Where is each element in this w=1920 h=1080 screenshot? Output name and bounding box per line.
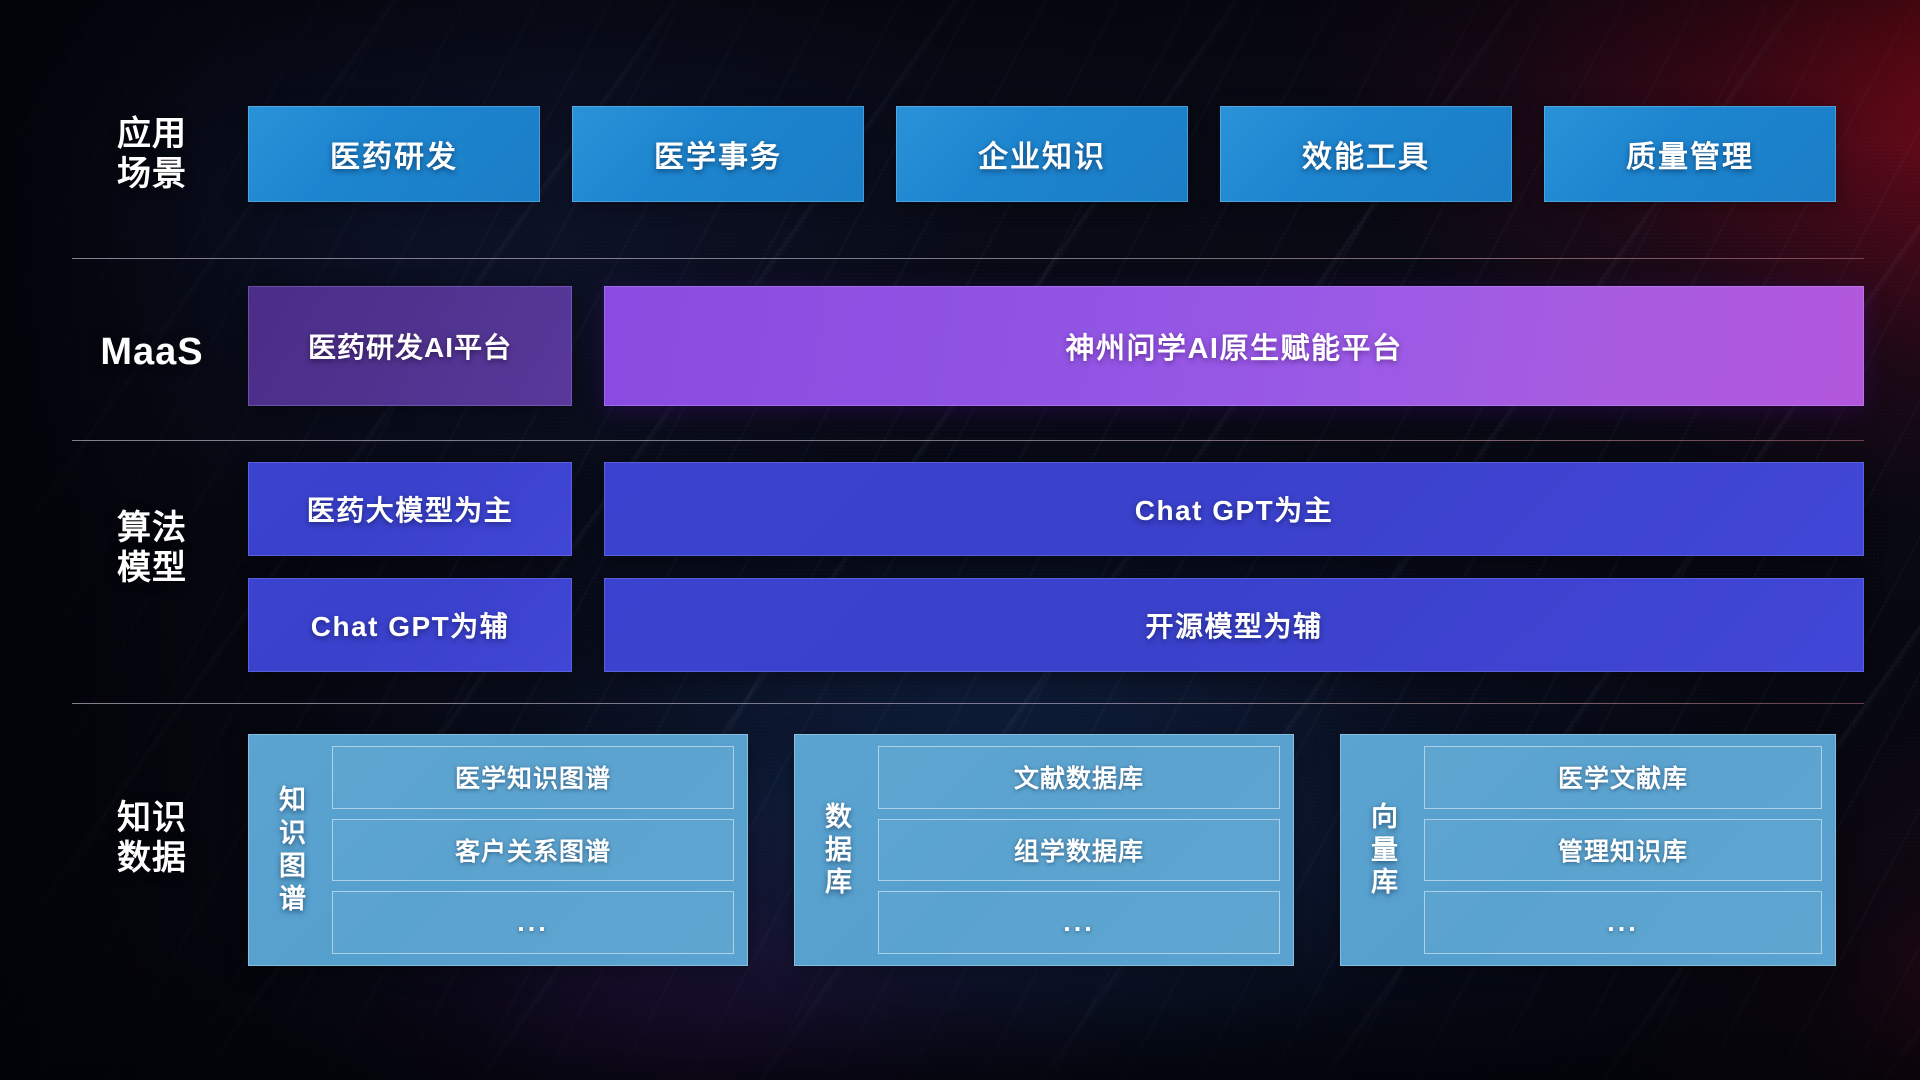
knowledge-group-graph-title: 知 识 图 谱 — [254, 784, 332, 916]
knowledge-group-vector-title: 向 量 库 — [1346, 801, 1424, 900]
divider-application-maas — [72, 258, 1864, 259]
algorithm-card-primary-right[interactable]: Chat GPT为主 — [604, 462, 1864, 556]
scenario-card-3-label: 企业知识 — [978, 132, 1106, 176]
knowledge-item-graph-more-label: ... — [517, 907, 549, 938]
knowledge-item-vector-more[interactable]: ... — [1424, 891, 1822, 954]
algorithm-card-primary-right-label: Chat GPT为主 — [1135, 489, 1334, 529]
knowledge-group-graph-items: 医学知识图谱 客户关系图谱 ... — [332, 746, 734, 954]
algorithm-card-secondary-left-label: Chat GPT为辅 — [311, 605, 510, 645]
scenario-card-5[interactable]: 质量管理 — [1544, 106, 1836, 202]
scenario-card-1-label: 医药研发 — [330, 132, 458, 176]
divider-algorithm-knowledge — [72, 703, 1864, 704]
knowledge-group-database[interactable]: 数 据 库 文献数据库 组学数据库 ... — [794, 734, 1294, 966]
knowledge-group-database-title: 数 据 库 — [800, 801, 878, 900]
row-label-application: 应用 场景 — [72, 114, 232, 194]
knowledge-item-database-1[interactable]: 文献数据库 — [878, 746, 1280, 809]
knowledge-group-graph[interactable]: 知 识 图 谱 医学知识图谱 客户关系图谱 ... — [248, 734, 748, 966]
row-label-knowledge: 知识 数据 — [72, 798, 232, 878]
scenario-card-4-label: 效能工具 — [1302, 132, 1430, 176]
scenario-card-3[interactable]: 企业知识 — [896, 106, 1188, 202]
maas-platform-card-left-label: 医药研发AI平台 — [308, 326, 512, 366]
maas-platform-card-left[interactable]: 医药研发AI平台 — [248, 286, 572, 406]
algorithm-card-secondary-right[interactable]: 开源模型为辅 — [604, 578, 1864, 672]
knowledge-item-graph-more[interactable]: ... — [332, 891, 734, 954]
knowledge-group-database-items: 文献数据库 组学数据库 ... — [878, 746, 1280, 954]
knowledge-group-vector-items: 医学文献库 管理知识库 ... — [1424, 746, 1822, 954]
algorithm-card-primary-left-label: 医药大模型为主 — [307, 489, 514, 529]
knowledge-item-database-1-label: 文献数据库 — [1014, 759, 1144, 795]
knowledge-item-database-2[interactable]: 组学数据库 — [878, 819, 1280, 882]
knowledge-item-graph-1-label: 医学知识图谱 — [455, 759, 611, 795]
algorithm-card-secondary-right-label: 开源模型为辅 — [1145, 605, 1322, 645]
knowledge-item-database-more[interactable]: ... — [878, 891, 1280, 954]
knowledge-item-graph-2[interactable]: 客户关系图谱 — [332, 819, 734, 882]
knowledge-item-vector-more-label: ... — [1607, 907, 1639, 938]
scenario-card-5-label: 质量管理 — [1626, 132, 1754, 176]
row-label-maas: MaaS — [72, 330, 232, 375]
divider-maas-algorithm — [72, 440, 1864, 441]
knowledge-item-vector-1[interactable]: 医学文献库 — [1424, 746, 1822, 809]
knowledge-group-vector[interactable]: 向 量 库 医学文献库 管理知识库 ... — [1340, 734, 1836, 966]
knowledge-item-vector-2[interactable]: 管理知识库 — [1424, 819, 1822, 882]
scenario-card-2[interactable]: 医学事务 — [572, 106, 864, 202]
row-label-algorithm: 算法 模型 — [72, 508, 232, 588]
algorithm-card-secondary-left[interactable]: Chat GPT为辅 — [248, 578, 572, 672]
diagram-content: 应用 场景 医药研发 医学事务 企业知识 效能工具 质量管理 MaaS 医药研发… — [0, 0, 1920, 1080]
knowledge-item-graph-1[interactable]: 医学知识图谱 — [332, 746, 734, 809]
scenario-card-4[interactable]: 效能工具 — [1220, 106, 1512, 202]
algorithm-card-primary-left[interactable]: 医药大模型为主 — [248, 462, 572, 556]
knowledge-item-vector-1-label: 医学文献库 — [1558, 759, 1688, 795]
scenario-card-2-label: 医学事务 — [654, 132, 782, 176]
architecture-diagram: 应用 场景 医药研发 医学事务 企业知识 效能工具 质量管理 MaaS 医药研发… — [0, 0, 1920, 1080]
maas-platform-card-right[interactable]: 神州问学AI原生赋能平台 — [604, 286, 1864, 406]
knowledge-item-database-2-label: 组学数据库 — [1014, 832, 1144, 868]
knowledge-item-graph-2-label: 客户关系图谱 — [455, 832, 611, 868]
scenario-card-1[interactable]: 医药研发 — [248, 106, 540, 202]
knowledge-item-database-more-label: ... — [1063, 907, 1095, 938]
maas-platform-card-right-label: 神州问学AI原生赋能平台 — [1065, 325, 1402, 367]
knowledge-item-vector-2-label: 管理知识库 — [1558, 832, 1688, 868]
